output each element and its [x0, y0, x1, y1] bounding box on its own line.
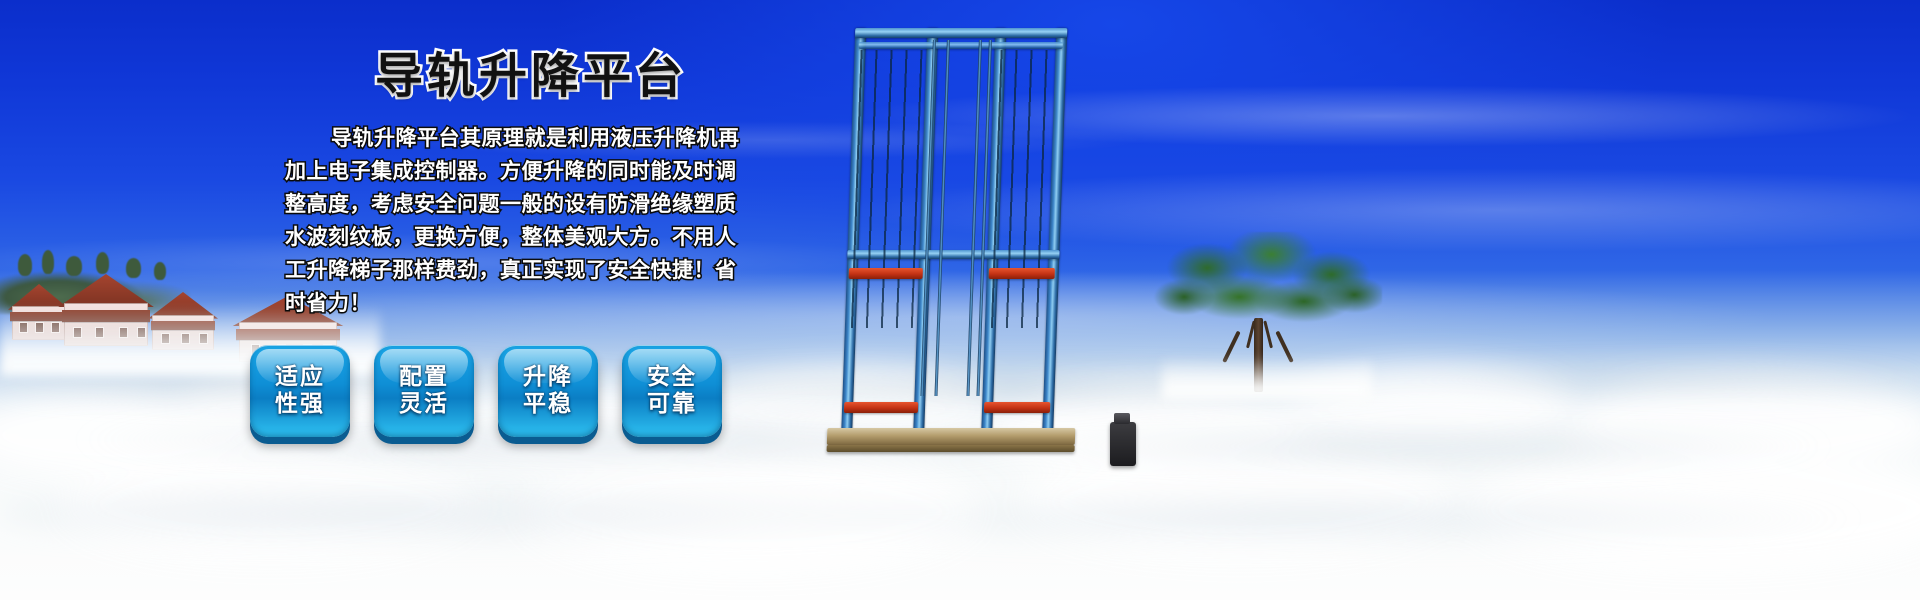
guide-rail: [934, 40, 949, 396]
feature-badge-adaptability[interactable]: 适应 性强: [250, 345, 350, 437]
cage-mesh: [851, 50, 923, 328]
badge-label: 安全 可靠: [647, 364, 697, 418]
top-beam: [855, 28, 1067, 38]
description-paragraph: 导轨升降平台其原理就是利用液压升降机再加上电子集成控制器。方便升降的同时能及时调…: [285, 122, 753, 320]
red-cross-member: [844, 402, 918, 413]
badge-label: 适应 性强: [275, 364, 325, 418]
lift-deck-edge: [827, 445, 1075, 452]
feature-badge-smooth-lifting[interactable]: 升降 平稳: [498, 345, 598, 437]
red-cross-member: [984, 402, 1050, 413]
feature-badge-configuration[interactable]: 配置 灵活: [374, 345, 474, 437]
red-cross-member: [849, 268, 923, 279]
lone-tree: [1142, 232, 1392, 392]
product-banner: 导轨升降平台 导轨升降平台其原理就是利用液压升降机再加上电子集成控制器。方便升降…: [0, 0, 1920, 600]
feature-badge-safety[interactable]: 安全 可靠: [622, 345, 722, 437]
lift-frame: [841, 28, 1068, 448]
guide-rail-lift-platform-graphic: [830, 18, 1130, 488]
tree-mist: [1162, 356, 1372, 400]
page-title: 导轨升降平台: [375, 52, 785, 100]
top-beam: [859, 42, 1063, 49]
lift-deck: [827, 428, 1076, 445]
hydraulic-power-unit: [1110, 422, 1136, 466]
badge-label: 升降 平稳: [523, 364, 573, 418]
feature-badge-list: 适应 性强 配置 灵活 升降 平稳 安全 可靠: [250, 345, 722, 437]
cage-mesh: [991, 50, 1053, 328]
copy-block: 导轨升降平台 导轨升降平台其原理就是利用液压升降机再加上电子集成控制器。方便升降…: [285, 52, 785, 320]
red-cross-member: [989, 268, 1055, 279]
badge-label: 配置 灵活: [399, 364, 449, 418]
